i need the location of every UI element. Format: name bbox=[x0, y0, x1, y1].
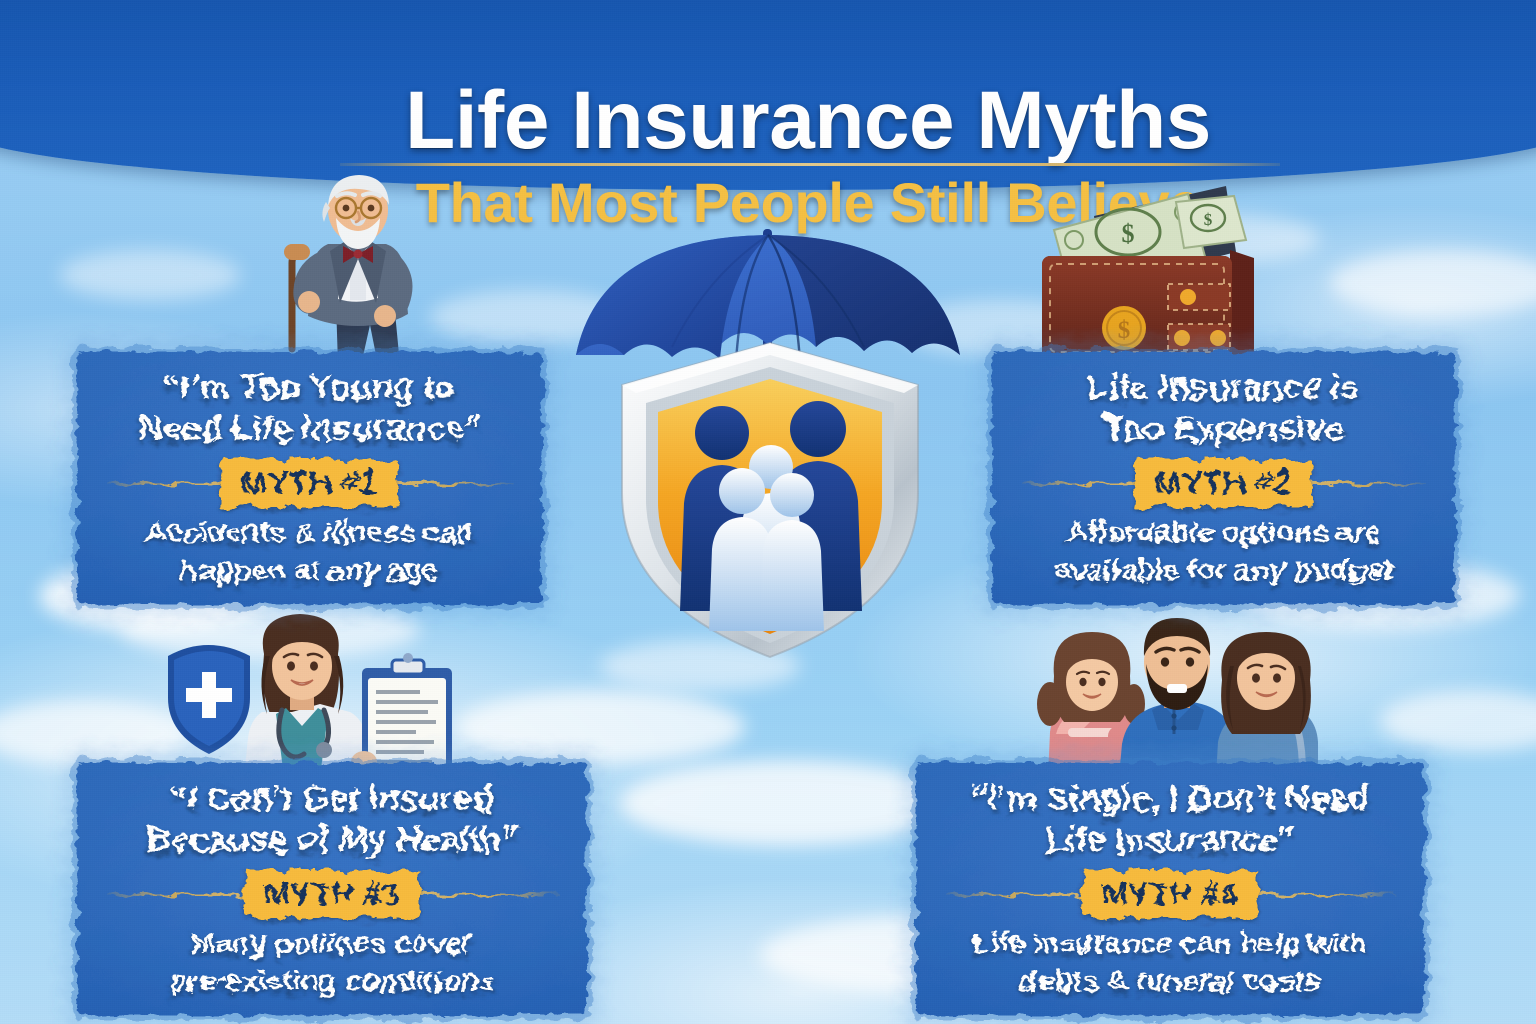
svg-text:$: $ bbox=[1204, 210, 1213, 229]
svg-text:$: $ bbox=[1122, 219, 1135, 248]
myth-quote-line-2: Because of My Health” bbox=[146, 820, 519, 859]
myth-card-2[interactable]: Life Insurance is Too Expensive MYTH #2 … bbox=[992, 352, 1455, 604]
myth-fact-line-1: Accidents & illness can bbox=[144, 516, 475, 549]
blue-shield-medical-cross-icon bbox=[168, 630, 250, 754]
myth-quote-line-2: Too Expensive bbox=[1103, 409, 1344, 448]
infographic-poster: Life Insurance Myths That Most People St… bbox=[0, 0, 1536, 1024]
badge-row: MYTH #4 bbox=[934, 871, 1406, 917]
myth-fact: Many poliines cover pre-existing conditi… bbox=[95, 925, 569, 1001]
myth-fact: Accidents & illness can happen at any ag… bbox=[95, 514, 524, 590]
cloud bbox=[1380, 690, 1536, 752]
myth-card-3[interactable]: “I Can’t Get Insured Because of My Healt… bbox=[77, 763, 587, 1015]
myth-number-badge: MYTH #3 bbox=[244, 871, 421, 918]
myth-number-badge: MYTH #1 bbox=[221, 460, 398, 507]
page-title: Life Insurance Myths bbox=[40, 74, 1536, 168]
wallet-with-cash-icon: $ $ bbox=[1032, 172, 1260, 362]
family-portrait-icon bbox=[1022, 612, 1318, 777]
myth-fact-line-1: Many poliines cover bbox=[191, 927, 474, 960]
myth-quote-line-2: Need Life Insurance” bbox=[137, 409, 481, 448]
myth-fact-line-1: Affordable options are bbox=[1066, 516, 1382, 549]
myth-fact-line-2: debts & funeral costs bbox=[1020, 965, 1321, 998]
myth-fact-line-2: pre-existing conditions bbox=[169, 965, 494, 998]
myth-quote: Life Insurance is Too Expensive bbox=[1010, 368, 1437, 449]
myth-fact: Affordable options are available for any… bbox=[1010, 514, 1437, 590]
elderly-man-with-cane-icon bbox=[258, 170, 448, 365]
myth-quote-line-1: Life Insurance is bbox=[1088, 368, 1359, 407]
myth-quote-line-2: Life Insurance” bbox=[1045, 820, 1295, 859]
doctor-with-clipboard-icon bbox=[158, 612, 458, 777]
svg-text:$: $ bbox=[1118, 317, 1131, 344]
badge-row: MYTH #1 bbox=[95, 460, 524, 506]
myth-quote: “I’m Too Young to Need Life Insurance” bbox=[95, 368, 524, 449]
cloud bbox=[455, 690, 745, 764]
myth-card-4[interactable]: “I’m Single, I Don’t Need Life Insurance… bbox=[916, 763, 1424, 1015]
myth-quote-line-1: “I’m Too Young to bbox=[163, 368, 455, 407]
myth-quote: “I’m Single, I Don’t Need Life Insurance… bbox=[934, 779, 1406, 860]
myth-quote: “I Can’t Get Insured Because of My Healt… bbox=[95, 779, 569, 860]
umbrella-over-shield-emblem bbox=[570, 215, 970, 665]
myth-number-badge: MYTH #2 bbox=[1135, 460, 1312, 507]
title-divider bbox=[340, 163, 1280, 166]
myth-card-1[interactable]: “I’m Too Young to Need Life Insurance” M… bbox=[77, 352, 542, 604]
badge-row: MYTH #3 bbox=[95, 871, 569, 917]
cloud bbox=[60, 250, 240, 300]
cloud bbox=[620, 760, 950, 846]
badge-row: MYTH #2 bbox=[1010, 460, 1437, 506]
myth-quote-line-1: “I’m Single, I Don’t Need bbox=[971, 779, 1370, 818]
myth-fact-line-2: happen at any age bbox=[180, 554, 438, 587]
myth-fact-line-2: available for any budget bbox=[1054, 554, 1393, 587]
cloud bbox=[1330, 250, 1536, 316]
myth-fact: Life insurance can help with debts & fun… bbox=[934, 925, 1406, 1001]
myth-quote-line-1: “I Can’t Get Insured bbox=[171, 779, 494, 818]
myth-number-badge: MYTH #4 bbox=[1082, 871, 1259, 918]
myth-fact-line-1: Life insurance can help with bbox=[972, 927, 1368, 960]
